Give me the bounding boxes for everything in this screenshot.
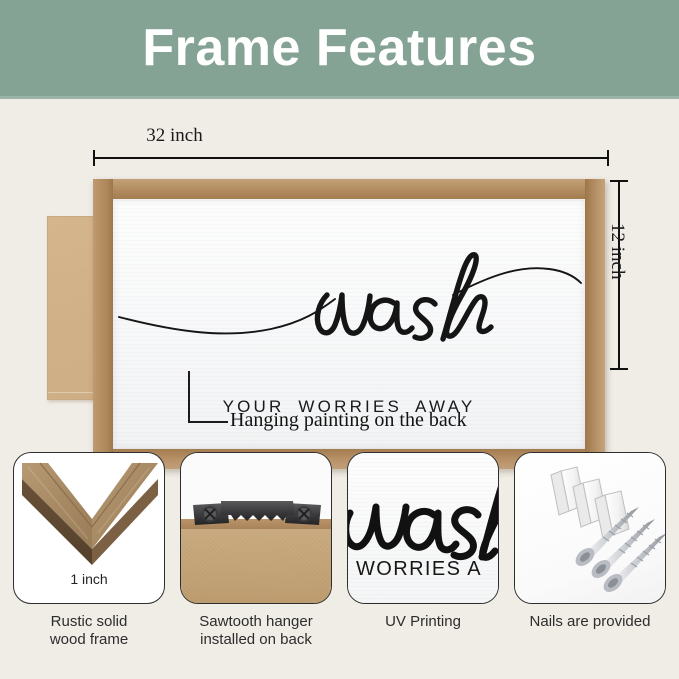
height-dimension-label: 12 inch: [606, 223, 628, 279]
backing-callout-leader-vertical: [188, 371, 190, 423]
width-dimension-label-wrap: 32 inch: [0, 125, 679, 147]
backing-callout-label: Hanging painting on the back: [230, 409, 467, 432]
thumb-uv-printing: WORRIES A: [347, 452, 499, 604]
feature-caption-sawtooth-hanger: Sawtooth hanger installed on back: [199, 613, 312, 650]
width-dimension-line: [93, 157, 609, 159]
width-dimension-label: 32 inch: [146, 125, 202, 146]
nails-and-anchors-illustration: [515, 453, 666, 604]
thumb-nails-provided: [514, 452, 666, 604]
page-title: Frame Features: [142, 22, 536, 74]
frame-rail-right: [585, 179, 605, 469]
feature-cell-nails: Nails are provided: [511, 452, 669, 679]
feature-caption-uv-printing: UV Printing: [385, 613, 461, 631]
frame-rail-left: [93, 179, 113, 469]
feature-cell-rustic-frame: 1 inch Rustic solid wood frame: [10, 452, 168, 679]
feature-thumbnail-row: 1 inch Rustic solid wood frame: [0, 452, 679, 679]
height-tick-top: [610, 180, 628, 182]
backing-callout-leader-horizontal: [188, 421, 228, 423]
header-banner: Frame Features: [0, 0, 679, 96]
feature-cell-uv-printing: WORRIES A UV Printing: [344, 452, 502, 679]
width-tick-left: [93, 150, 95, 166]
uv-wash-script-crop: [348, 461, 499, 571]
width-tick-right: [607, 150, 609, 166]
feature-cell-sawtooth-hanger: Sawtooth hanger installed on back: [177, 452, 335, 679]
thumb-sawtooth-hanger: [180, 452, 332, 604]
uv-subtitle-crop: WORRIES A: [356, 558, 482, 581]
feature-caption-nails: Nails are provided: [530, 613, 651, 631]
frame-rail-top: [93, 179, 605, 199]
hero-product-diagram: 32 inch 12 inch: [0, 99, 679, 444]
thumb-frame-corner: 1 inch: [13, 452, 165, 604]
feature-caption-rustic-frame: Rustic solid wood frame: [50, 613, 128, 650]
frame-thickness-badge: 1 inch: [14, 571, 164, 587]
height-tick-bottom: [610, 368, 628, 370]
sawtooth-hanger-icon: [181, 453, 332, 604]
